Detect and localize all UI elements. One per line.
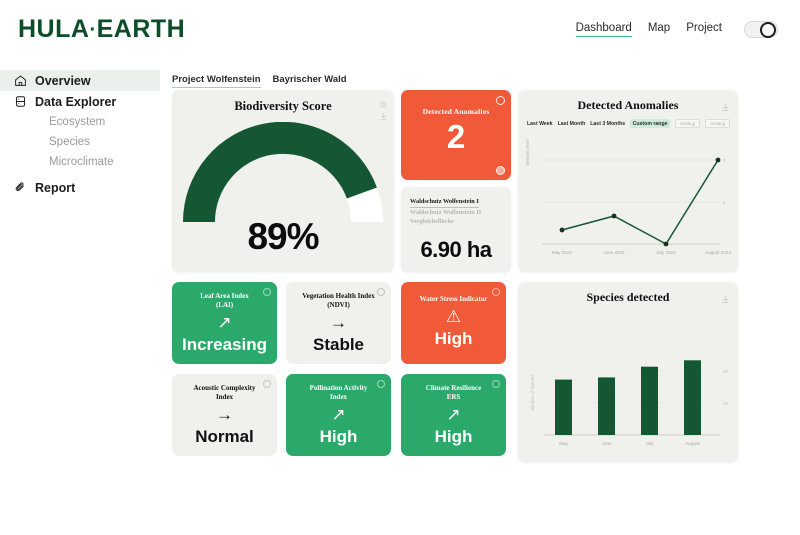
svg-text:July: July: [645, 441, 654, 446]
kpi-label-line1: Vegetation Health Index: [302, 292, 374, 300]
svg-text:5: 5: [723, 158, 726, 163]
anomalies-chart-title: Detected Anomalies: [518, 98, 738, 113]
sidebar-item-report-label: Report: [35, 181, 75, 195]
sidebar-item-overview[interactable]: Overview: [0, 70, 160, 91]
filter-custom-range[interactable]: Custom range: [630, 119, 670, 128]
svg-text:May 2024: May 2024: [552, 250, 573, 255]
detected-anomalies-kpi-label: Detected Anomalies: [401, 107, 511, 116]
sidebar-item-overview-label: Overview: [35, 74, 91, 88]
info-icon[interactable]: [263, 288, 271, 296]
sidebar-item-data-explorer-label: Data Explorer: [35, 95, 116, 109]
brand-name-part2: EARTH: [97, 15, 186, 43]
nav-link-project[interactable]: Project: [686, 22, 722, 36]
sidebar-subitem-species[interactable]: Species: [0, 132, 160, 152]
kpi-tile-value: High: [401, 329, 506, 349]
info-icon[interactable]: [492, 288, 500, 296]
dashboard-root: HULA·EARTH Dashboard Map Project Overvie…: [0, 0, 800, 535]
date-to-input[interactable]: tt.mm.jj: [705, 119, 730, 128]
detected-anomalies-chart-card: Detected Anomalies Last Week Last Month …: [518, 90, 738, 272]
project-tabs: Project Wolfenstein Bayrischer Wald: [172, 74, 347, 88]
kpi-tile-vegetation-health-index[interactable]: Vegetation Health Index (NDVI) → Stable: [286, 282, 391, 364]
sidebar: Overview Data Explorer Ecosystem Species…: [0, 70, 160, 198]
sidebar-item-report[interactable]: Report: [0, 177, 160, 198]
cursor-pointer-icon: [496, 166, 505, 175]
database-icon: [14, 95, 27, 108]
trend-up-arrow-icon: ↗: [172, 312, 277, 334]
nav-link-dashboard[interactable]: Dashboard: [576, 22, 632, 37]
kpi-tile-label: Vegetation Health Index (NDVI): [286, 292, 391, 310]
download-icon[interactable]: [721, 99, 730, 108]
trend-up-arrow-icon: ↗: [286, 404, 391, 426]
svg-text:July 2024: July 2024: [656, 250, 676, 255]
kpi-label-line1: Leaf Area Index: [200, 292, 248, 300]
species-bar-plot: Number of species 30 15 May June July: [528, 315, 730, 455]
kpi-tile-climate-resilience-ers[interactable]: Climate Resilience ERS ↗ High: [401, 374, 506, 456]
species-detected-chart-card: Species detected Number of species 30 15: [518, 282, 738, 462]
kpi-label-line2: (LAI): [216, 301, 233, 309]
trend-flat-arrow-icon: →: [286, 312, 391, 334]
detected-anomalies-kpi-value: 2: [401, 120, 511, 153]
kpi-tile-acoustic-complexity-index[interactable]: Acoustic Complexity Index → Normal: [172, 374, 277, 456]
area-option-vergleichsflaeche[interactable]: Vergleichsfläche: [410, 217, 503, 226]
paperclip-icon: [14, 181, 27, 194]
kpi-tile-water-stress-indicator[interactable]: Water Stress Indicator ⚠ High: [401, 282, 506, 364]
brand-separator: ·: [89, 18, 96, 40]
anomalies-y-axis-label: Detected level: [525, 139, 530, 166]
toggle-knob: [760, 22, 776, 38]
biodiversity-gauge: 89%: [183, 122, 383, 242]
kpi-tile-label: Leaf Area Index (LAI): [172, 292, 277, 310]
svg-text:August 2024: August 2024: [705, 250, 731, 255]
area-option-wolfenstein-2[interactable]: Waldschutz Wolfenstein II: [410, 208, 503, 217]
info-icon[interactable]: [492, 380, 500, 388]
kpi-tile-value: Normal: [172, 427, 277, 447]
time-range-filters: Last Week Last Month Last 3 Months Custo…: [518, 113, 738, 128]
filter-last-week[interactable]: Last Week: [527, 121, 553, 127]
brand-logo: HULA·EARTH: [18, 15, 185, 44]
gear-icon[interactable]: [379, 96, 388, 105]
date-from-input[interactable]: tt.mm.jj: [675, 119, 700, 128]
sidebar-subitem-ecosystem[interactable]: Ecosystem: [0, 112, 160, 132]
svg-text:June: June: [602, 441, 612, 446]
kpi-label-line1: Acoustic Complexity: [193, 384, 255, 392]
kpi-label-line1: Climate Resilience: [426, 384, 481, 392]
kpi-label-line1: Pollination Activity: [310, 384, 368, 392]
theme-toggle[interactable]: [744, 21, 778, 38]
biodiversity-title: Biodiversity Score: [172, 99, 394, 114]
species-y-axis-label: Number of species: [530, 374, 535, 411]
top-navigation: Dashboard Map Project: [576, 21, 778, 38]
kpi-tile-label: Acoustic Complexity Index: [172, 384, 277, 402]
tab-project-wolfenstein[interactable]: Project Wolfenstein: [172, 74, 261, 88]
kpi-tile-value: High: [401, 427, 506, 447]
trend-up-arrow-icon: ↗: [401, 404, 506, 426]
kpi-tile-value: Increasing: [172, 335, 277, 355]
kpi-tile-leaf-area-index[interactable]: Leaf Area Index (LAI) ↗ Increasing: [172, 282, 277, 364]
detected-anomalies-kpi-card[interactable]: Detected Anomalies 2: [401, 90, 511, 180]
info-icon[interactable]: [496, 96, 505, 105]
svg-text:August: August: [685, 441, 700, 446]
kpi-tile-label: Climate Resilience ERS: [401, 384, 506, 402]
tab-bayrischer-wald[interactable]: Bayrischer Wald: [273, 74, 347, 88]
info-icon[interactable]: [377, 380, 385, 388]
sidebar-subitem-microclimate[interactable]: Microclimate: [0, 152, 160, 172]
trend-flat-arrow-icon: →: [172, 404, 277, 426]
protected-area-card: Waldschutz Wolfenstein I Waldschutz Wolf…: [401, 187, 511, 272]
app-header: HULA·EARTH Dashboard Map Project: [0, 0, 800, 58]
anomalies-line-svg: 5 2 May 2024 June 2024 July 2024 August …: [524, 132, 732, 264]
area-value: 6.90 ha: [401, 237, 511, 263]
kpi-tile-label: Water Stress Indicator: [401, 295, 506, 304]
svg-text:30: 30: [723, 369, 728, 374]
species-chart-title: Species detected: [518, 290, 738, 305]
sidebar-item-data-explorer[interactable]: Data Explorer: [0, 91, 160, 112]
kpi-label-line2: (NDVI): [327, 301, 350, 309]
kpi-tile-pollination-activity-index[interactable]: Pollination Activity Index ↗ High: [286, 374, 391, 456]
area-selector-list: Waldschutz Wolfenstein I Waldschutz Wolf…: [401, 187, 511, 226]
svg-text:2: 2: [723, 200, 726, 205]
download-icon[interactable]: [379, 108, 388, 117]
info-icon[interactable]: [377, 288, 385, 296]
kpi-label-line2: Index: [330, 393, 347, 401]
anomalies-line-plot: Detected level 5 2 May 2024 June 2024: [524, 132, 732, 264]
biodiversity-value: 89%: [183, 216, 383, 258]
kpi-tile-value: Stable: [286, 335, 391, 355]
kpi-tile-value: High: [286, 427, 391, 447]
card-corner-icons: [379, 96, 388, 117]
warning-triangle-icon: ⚠: [401, 306, 506, 328]
kpi-label-line1: Water Stress Indicator: [420, 295, 488, 303]
svg-text:May: May: [559, 441, 568, 446]
svg-text:June 2024: June 2024: [603, 250, 625, 255]
species-bar-svg: Number of species 30 15 May June July: [528, 315, 732, 455]
kpi-label-line2: Index: [216, 393, 233, 401]
filter-last-3-months[interactable]: Last 3 Months: [590, 121, 625, 127]
kpi-tile-label: Pollination Activity Index: [286, 384, 391, 402]
area-option-wolfenstein-1[interactable]: Waldschutz Wolfenstein I: [410, 197, 479, 208]
home-icon: [14, 74, 27, 87]
info-icon[interactable]: [263, 380, 271, 388]
brand-name-part1: HULA: [18, 15, 89, 43]
filter-last-month[interactable]: Last Month: [558, 121, 586, 127]
biodiversity-score-card: Biodiversity Score 89%: [172, 90, 394, 272]
nav-link-map[interactable]: Map: [648, 22, 670, 36]
download-icon[interactable]: [721, 291, 730, 300]
svg-text:15: 15: [723, 401, 728, 406]
kpi-label-line2: ERS: [447, 393, 461, 401]
